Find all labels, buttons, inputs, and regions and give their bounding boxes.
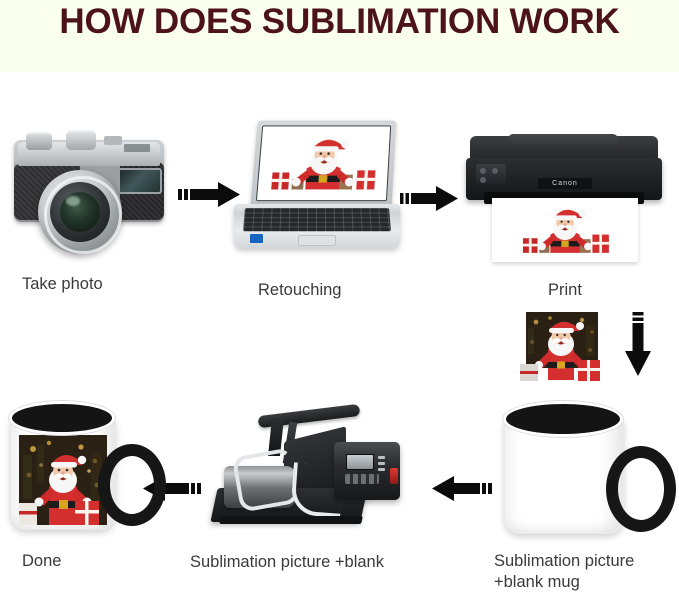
arrow-mug-to-press [432,472,494,504]
caption-retouching: Retouching [258,280,438,301]
santa-artwork-screen [257,126,390,200]
arrow-camera-to-laptop [178,178,240,210]
arrow-printer-to-print [622,312,654,378]
caption-print: Print [548,280,668,301]
printer-icon: Canon [462,134,667,264]
sublimation-print-icon [516,310,606,382]
mug-heat-press-icon [210,404,410,534]
blank-mug-icon [498,398,674,540]
infographic-canvas: HOW DOES SUBLIMATION WORK Take photo [0,0,679,603]
camera-icon [8,112,173,247]
santa-artwork-print [492,198,638,262]
caption-done: Done [22,551,162,572]
santa-artwork-mug [19,435,107,525]
caption-heat-press: Sublimation picture +blank [190,552,460,573]
finished-mug-icon [4,396,154,542]
printed-paper [492,198,638,262]
caption-take-photo: Take photo [22,274,182,295]
laptop-icon [232,118,402,253]
page-title: HOW DOES SUBLIMATION WORK [0,0,679,46]
caption-blank-mug: Sublimation picture +blank mug [494,551,679,592]
printer-brand-logo: Canon [538,178,592,189]
arrow-laptop-to-printer [400,182,458,214]
